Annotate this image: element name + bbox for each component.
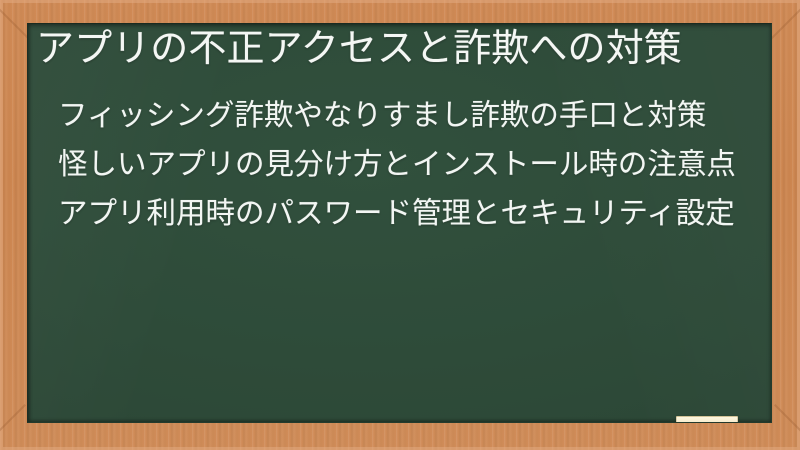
- frame-miter-top-left: [0, 6, 30, 40]
- bullet-list: フィッシング詐欺やなりすまし詐欺の手口と対策 怪しいアプリの見分け方とインストー…: [58, 97, 763, 234]
- frame-miter-top-right: [770, 6, 800, 40]
- frame-miter-bottom-left: [0, 404, 26, 438]
- frame-miter-bottom-right: [774, 404, 800, 438]
- blackboard-slide: アプリの不正アクセスと詐欺への対策 フィッシング詐欺やなりすまし詐欺の手口と対策…: [0, 0, 800, 450]
- bullet-item-2: 怪しいアプリの見分け方とインストール時の注意点: [58, 146, 763, 185]
- chalkboard-surface: アプリの不正アクセスと詐欺への対策 フィッシング詐欺やなりすまし詐欺の手口と対策…: [27, 23, 772, 423]
- bullet-item-1: フィッシング詐欺やなりすまし詐欺の手口と対策: [58, 97, 763, 136]
- bullet-item-3: アプリ利用時のパスワード管理とセキュリティ設定: [58, 195, 763, 234]
- chalk-stick: [676, 416, 738, 423]
- slide-title: アプリの不正アクセスと詐欺への対策: [36, 27, 762, 72]
